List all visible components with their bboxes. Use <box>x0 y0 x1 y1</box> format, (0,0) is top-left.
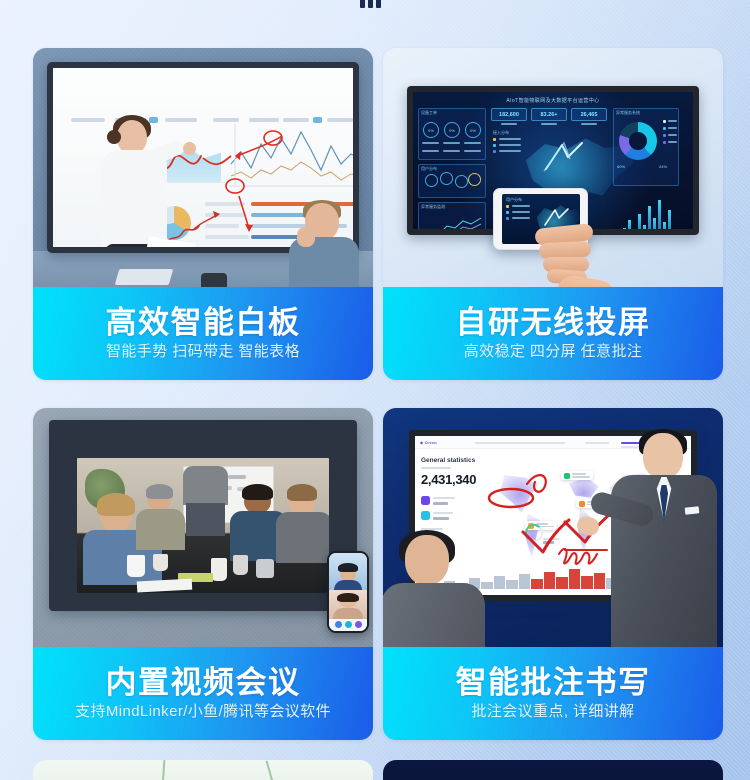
display-device <box>49 420 357 611</box>
feature-banner-smart-annotation: 智能批注书写 批注会议重点, 详细讲解 <box>383 647 723 740</box>
feature-title: 智能批注书写 <box>456 666 651 700</box>
presenter-figure <box>95 120 179 247</box>
call-participant-tile <box>329 553 367 590</box>
dashboard-stat-value: 182,600 <box>491 108 527 121</box>
panel-label: 异常服务监测 <box>421 204 445 210</box>
panel-label: 异常服务系统 <box>616 110 640 116</box>
companion-phone <box>327 551 369 633</box>
phone-call-screen <box>329 553 367 631</box>
feature-banner-wireless-casting: 自研无线投屏 高效稳定 四分屏 任意批注 <box>383 287 723 380</box>
call-controls[interactable] <box>329 619 367 631</box>
presenter-figure <box>607 433 723 647</box>
feature-photo-wireless-casting: AIoT智能物联网及大数据平台运营中心 设备工单 0% 0% 0% 用户分布 <box>383 48 723 287</box>
next-card-right[interactable] <box>383 760 723 780</box>
feature-subtitle: 高效稳定 四分屏 任意批注 <box>464 343 643 361</box>
feature-photo-video-conference <box>33 408 373 647</box>
feature-subtitle: 批注会议重点, 详细讲解 <box>471 703 634 721</box>
dashboard-stat-label <box>581 123 597 125</box>
map-arrow-icon <box>542 139 586 175</box>
call-participant-tile <box>329 590 367 618</box>
feature-title: 自研无线投屏 <box>456 306 651 340</box>
feature-card-grid: 高效智能白板 智能手势 扫码带走 智能表格 AIoT智能物联网及大数据平台运营中… <box>33 48 717 740</box>
more-button[interactable] <box>355 621 362 628</box>
dashboard-stat-value: 83.26+ <box>531 108 567 121</box>
attendee-figure <box>387 535 479 647</box>
panel-label: 设备工单 <box>421 110 437 116</box>
dashboard-title: General statistics <box>421 457 475 464</box>
dashboard-metric: 2,431,340 <box>421 472 476 487</box>
panel-label: 用户分布 <box>421 166 437 172</box>
seated-attendee-figure <box>287 203 363 287</box>
next-section-preview <box>33 760 717 780</box>
dashboard-title: AIoT智能物联网及大数据平台运营中心 <box>413 97 693 104</box>
video-call-screen <box>77 458 329 593</box>
dashboard-stat-label <box>541 123 557 125</box>
mic-button[interactable] <box>335 621 342 628</box>
next-card-left[interactable] <box>33 760 373 780</box>
feature-banner-smart-whiteboard: 高效智能白板 智能手势 扫码带走 智能表格 <box>33 287 373 380</box>
feature-title: 高效智能白板 <box>106 306 301 340</box>
feature-card-wireless-casting[interactable]: AIoT智能物联网及大数据平台运营中心 设备工单 0% 0% 0% 用户分布 <box>383 48 723 380</box>
feature-banner-video-conference: 内置视频会议 支持MindLinker/小鱼/腾讯等会议软件 <box>33 647 373 740</box>
panel-label: 接入分布 <box>493 130 509 136</box>
feature-title: 内置视频会议 <box>106 666 301 700</box>
previous-section-remnant <box>360 0 390 8</box>
dashboard-stat-label <box>501 123 517 125</box>
feature-photo-smart-annotation: ◆ Orion General statistics 2,431,340 <box>383 408 723 647</box>
feature-photo-smart-whiteboard <box>33 48 373 287</box>
site-logo: ◆ Orion <box>420 440 437 445</box>
dashboard-stat-value: 26,465 <box>571 108 607 121</box>
feature-card-smart-annotation[interactable]: ◆ Orion General statistics 2,431,340 <box>383 408 723 740</box>
feature-subtitle: 智能手势 扫码带走 智能表格 <box>106 343 300 361</box>
feature-card-smart-whiteboard[interactable]: 高效智能白板 智能手势 扫码带走 智能表格 <box>33 48 373 380</box>
feature-card-video-conference[interactable]: 内置视频会议 支持MindLinker/小鱼/腾讯等会议软件 <box>33 408 373 740</box>
camera-button[interactable] <box>345 621 352 628</box>
feature-subtitle: 支持MindLinker/小鱼/腾讯等会议软件 <box>75 703 331 721</box>
hand-holding-phone <box>533 212 625 287</box>
